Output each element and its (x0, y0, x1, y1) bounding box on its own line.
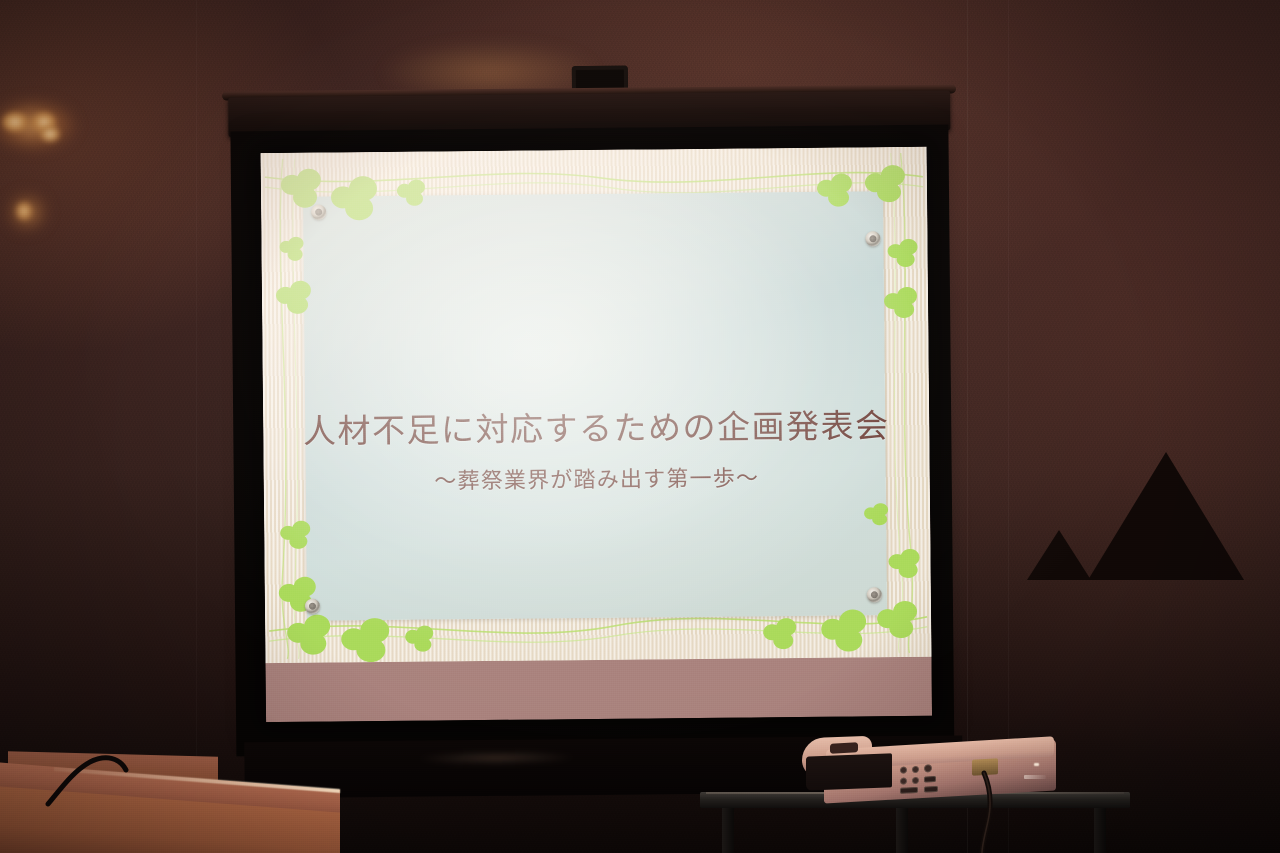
grommet-bottom-right (867, 587, 882, 602)
screen-surface: 人材不足に対応するための企画発表会 〜葬祭業界が踏み出す第一歩〜 (261, 147, 932, 722)
projector-port-panel (898, 761, 972, 795)
projector-port (924, 776, 936, 783)
projector-port (912, 777, 919, 784)
projector-port (900, 777, 907, 784)
projector-port (924, 786, 938, 793)
projector[interactable] (796, 729, 1062, 805)
projector-status-led (1034, 763, 1039, 766)
projector-front-vent (806, 753, 892, 790)
projector-handle-icon (830, 742, 858, 753)
grommet-top-right (865, 231, 880, 246)
presentation-slide: 人材不足に対応するための企画発表会 〜葬祭業界が踏み出す第一歩〜 (261, 147, 932, 663)
table-leg (896, 808, 908, 853)
table-leg (722, 808, 734, 853)
wall-uplight-lower-core (16, 202, 32, 220)
wall-seam (196, 0, 197, 853)
slide-title: 人材不足に対応するための企画発表会 (263, 399, 929, 453)
screen-gloss (416, 750, 576, 766)
mountain-triangle-small (1027, 530, 1091, 580)
screen-body: 人材不足に対応するための企画発表会 〜葬祭業界が踏み出す第一歩〜 (230, 125, 954, 757)
wall-uplight-core (2, 112, 28, 132)
slide-subtitle: 〜葬祭業界が踏み出す第一歩〜 (264, 459, 930, 497)
wall-seam (967, 0, 968, 853)
wall-uplight-core (40, 126, 60, 142)
projector-port (924, 764, 932, 772)
table-leg (1094, 808, 1106, 853)
mountain-triangle-large (1088, 452, 1244, 580)
projector-port (912, 766, 919, 773)
grommet-bottom-left (305, 599, 320, 614)
lectern (0, 762, 340, 853)
projector-cable-plug (972, 758, 998, 775)
grommet-top-left (311, 205, 326, 220)
projector-port (900, 766, 907, 773)
projector-logo (1024, 775, 1046, 779)
projection-screen[interactable]: 人材不足に対応するための企画発表会 〜葬祭業界が踏み出す第一歩〜 (222, 84, 964, 763)
room-scene: 人材不足に対応するための企画発表会 〜葬祭業界が踏み出す第一歩〜 (0, 0, 1280, 853)
wall-seam (1008, 0, 1009, 853)
projector-port (900, 787, 918, 794)
